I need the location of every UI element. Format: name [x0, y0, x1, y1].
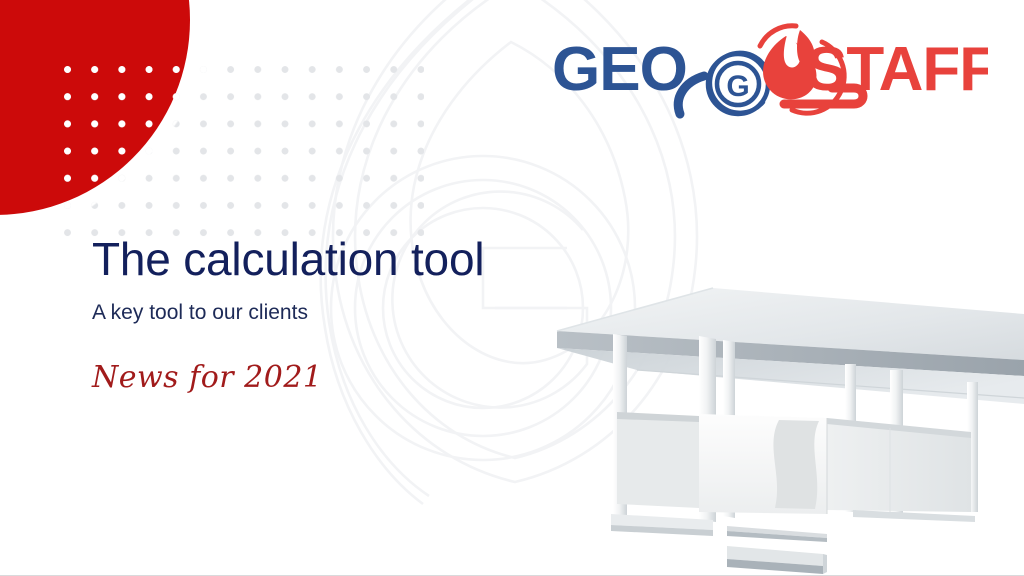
slide-canvas: GEO G STAFF The calculation tool A key t… — [0, 0, 1024, 576]
page-kicker: News for 2021 — [92, 363, 323, 393]
emblem-letter: G — [726, 70, 749, 103]
page-subtitle: A key tool to our clients — [92, 302, 308, 323]
geo-staff-logo: GEO G STAFF — [548, 16, 988, 120]
dot-grid-pattern-inverse — [64, 66, 424, 252]
logo-word-geo: GEO — [552, 35, 687, 104]
page-title: The calculation tool — [92, 236, 484, 282]
logo-word-staff: STAFF — [806, 35, 988, 104]
gas-station-canopy-3d-render — [527, 286, 1024, 576]
spiral-g-emblem: G — [708, 53, 768, 114]
